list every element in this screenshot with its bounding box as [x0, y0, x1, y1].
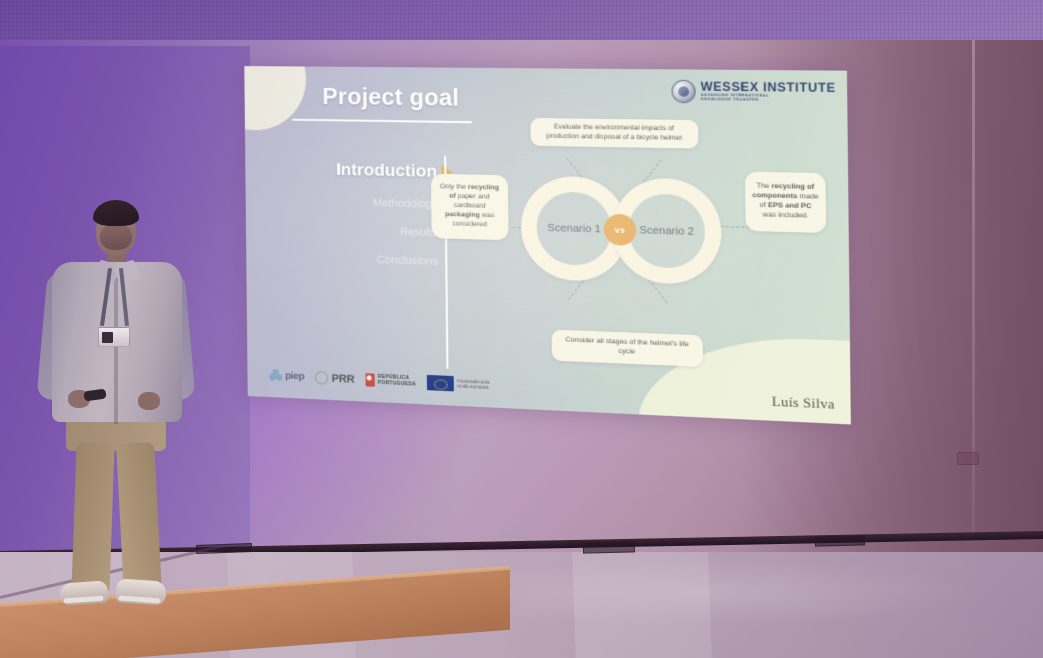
presenter-signature: Luís Silva: [772, 393, 835, 413]
wessex-institute-logo: WESSEX INSTITUTE ADVANCING INTERNATIONAL…: [671, 80, 836, 105]
name-badge: [98, 327, 130, 347]
ship-crest-icon: [671, 80, 695, 103]
callout-bottom: Consider all stages of the helmet's life…: [552, 330, 703, 367]
logo-prr: PRR: [315, 371, 354, 386]
institute-tagline-2: KNOWLEDGE TRANSFER: [701, 98, 836, 104]
callout-top: Evaluate the environmental impacts of pr…: [530, 118, 698, 149]
presenter-face: [100, 224, 132, 250]
callout-right-post: was included.: [763, 211, 809, 220]
callout-right: The recycling of components made of EPS …: [745, 172, 826, 233]
presenter-hair: [93, 200, 139, 226]
shirt-placket: [114, 278, 118, 424]
callout-right-pre: The: [756, 182, 771, 190]
nav-item-methodology: Methodology: [373, 197, 438, 211]
piep-droplets-icon: [269, 369, 282, 383]
nav-item-introduction: Introduction: [336, 160, 437, 182]
nav-item-conclusions: Conclusions: [377, 254, 439, 268]
eu-line-2: União Europeia: [457, 384, 489, 391]
callout-left-bold-2: packaging: [445, 211, 480, 219]
slide-canvas: Project goal WESSEX INSTITUTE ADVANCING …: [244, 66, 851, 424]
piep-label: piep: [285, 371, 304, 383]
republica-label: REPÚBLICA PORTUGUESA: [378, 375, 416, 388]
presenter-person: [24, 200, 204, 612]
eu-label: Financiado pela União Europeia: [457, 379, 489, 391]
scenario-comparison-diagram: Scenario 1 Scenario 2 vs Evaluate the en…: [443, 125, 851, 405]
callout-left-mid: paper and cardboard: [454, 193, 490, 210]
presenter-right-shoe: [115, 578, 167, 605]
projected-slide: Project goal WESSEX INSTITUTE ADVANCING …: [244, 66, 851, 424]
prr-label: PRR: [332, 372, 355, 385]
floor-vent: [583, 541, 635, 553]
title-underline: [292, 119, 471, 124]
shield-icon: [366, 373, 375, 387]
logo-european-union: Financiado pela União Europeia: [427, 375, 489, 393]
presenter-right-leg: [116, 442, 162, 594]
nav-label: Introduction: [336, 160, 437, 181]
presenter-left-shoe: [59, 580, 108, 605]
wall-seam: [972, 40, 975, 540]
callout-right-bold-2: EPS and PC: [768, 202, 812, 210]
slide-navigation: Introduction Methodology Results Conclus…: [271, 158, 438, 267]
prr-circle-icon: [315, 371, 328, 385]
callout-left-pre: Only the: [440, 183, 468, 191]
presenter-left-leg: [71, 442, 114, 593]
versus-badge: vs: [604, 214, 637, 246]
floor-vent: [815, 535, 865, 546]
presenter-right-hand: [138, 392, 160, 410]
eu-flag-icon: [427, 375, 454, 392]
republica-line-2: PORTUGUESA: [378, 380, 416, 387]
slide-title: Project goal: [322, 83, 459, 112]
logo-piep: piep: [269, 369, 304, 384]
callout-left: Only the recycling of paper and cardboar…: [431, 174, 509, 240]
presentation-room-scene: Project goal WESSEX INSTITUTE ADVANCING …: [0, 0, 1043, 658]
decorative-blob-top-left: [244, 66, 306, 131]
logo-republica-portuguesa: REPÚBLICA PORTUGUESA: [366, 373, 416, 388]
wall-outlet: [957, 452, 979, 465]
